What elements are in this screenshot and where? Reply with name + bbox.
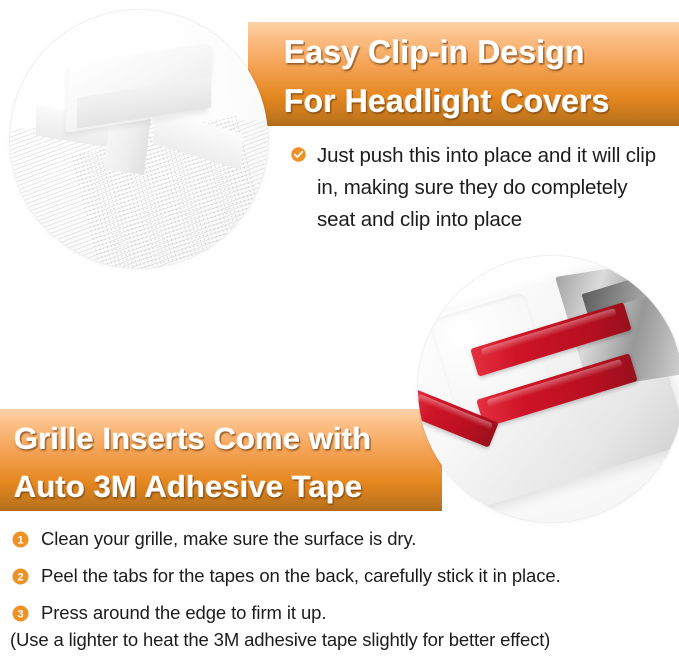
tape-photo-art (418, 256, 679, 522)
step-item-1: 1 Clean your grille, make sure the surfa… (10, 527, 670, 551)
bullet-item: Just push this into place and it will cl… (289, 140, 669, 236)
svg-text:2: 2 (17, 572, 23, 584)
adhesive-tape-photo (418, 256, 679, 522)
clip-closeup-photo (10, 10, 268, 268)
step-text-1: Clean your grille, make sure the surface… (41, 527, 416, 551)
svg-text:1: 1 (17, 535, 23, 547)
banner-top-line-2: For Headlight Covers (284, 77, 665, 126)
step-item-3: 3 Press around the edge to firm it up. (10, 601, 670, 625)
clip-photo-art (10, 10, 268, 268)
step-item-2: 2 Peel the tabs for the tapes on the bac… (10, 564, 670, 588)
banner-bottom-line-2: Auto 3M Adhesive Tape (14, 463, 428, 511)
step-number-badge-2: 2 (10, 566, 31, 587)
banner-top-line-1: Easy Clip-in Design (284, 28, 665, 77)
banner-adhesive-tape: Grille Inserts Come with Auto 3M Adhesiv… (0, 409, 442, 511)
step-text-2: Peel the tabs for the tapes on the back,… (41, 564, 561, 588)
bullet-list: Just push this into place and it will cl… (289, 140, 669, 236)
step-number-badge-3: 3 (10, 603, 31, 624)
svg-text:3: 3 (17, 609, 23, 621)
product-infographic: Easy Clip-in Design For Headlight Covers… (0, 0, 679, 660)
bullet-item-text: Just push this into place and it will cl… (317, 140, 669, 236)
banner-bottom-line-1: Grille Inserts Come with (14, 415, 428, 463)
step-text-3: Press around the edge to firm it up. (41, 601, 326, 625)
banner-clip-in-design: Easy Clip-in Design For Headlight Covers (248, 22, 679, 126)
check-circle-icon (289, 145, 308, 164)
steps-list: 1 Clean your grille, make sure the surfa… (10, 527, 670, 638)
footnote-text: (Use a lighter to heat the 3M adhesive t… (10, 628, 550, 652)
step-number-badge-1: 1 (10, 529, 31, 550)
